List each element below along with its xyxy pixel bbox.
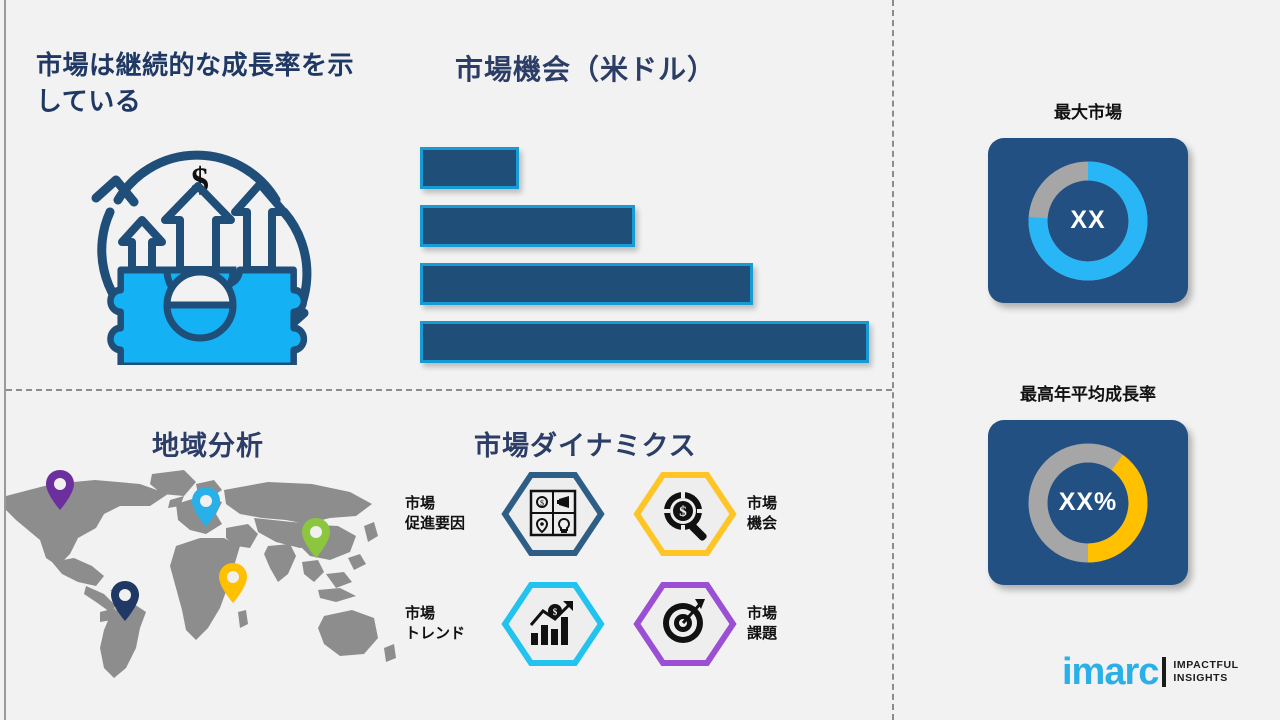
bar-4 — [420, 321, 869, 363]
dynamics-hex-drivers[interactable]: $ — [501, 471, 605, 557]
vertical-dashed-divider — [892, 0, 894, 720]
dynamics-label-challenges-line2: 課題 — [747, 624, 833, 644]
donut-1-label: 最大市場 — [958, 98, 1218, 123]
imarc-tagline-line1: IMPACTFUL — [1173, 659, 1238, 672]
dynamics-label-challenges-line1: 市場 — [747, 604, 833, 624]
bar-3 — [420, 263, 753, 305]
dynamics-row-top: 市場 促進要因 $ — [405, 474, 833, 554]
opportunity-bar-chart — [420, 147, 869, 379]
largest-market-donut-panel: XX — [988, 138, 1188, 303]
growth-section-heading: 市場は継続的な成長率を示している — [36, 48, 376, 120]
pin-middle-east-africa[interactable] — [217, 561, 249, 610]
donut-1-center-value: XX — [988, 138, 1188, 303]
svg-text:$: $ — [540, 499, 544, 508]
pin-europe[interactable] — [190, 485, 222, 534]
logo-divider — [1162, 657, 1166, 687]
imarc-logo: imarc IMPACTFUL INSIGHTS — [1062, 655, 1239, 689]
dynamics-section-heading: 市場ダイナミクス — [474, 424, 697, 463]
dynamics-label-drivers: 市場 促進要因 — [405, 494, 501, 535]
imarc-tagline-line2: INSIGHTS — [1173, 672, 1238, 685]
highest-cagr-donut-panel: XX% — [988, 420, 1188, 585]
dynamics-label-opportunities-line2: 機会 — [747, 514, 833, 534]
dynamics-label-opportunities-line1: 市場 — [747, 494, 833, 514]
svg-text:$: $ — [553, 607, 558, 617]
imarc-wordmark: imarc — [1062, 655, 1158, 689]
dynamics-label-drivers-line1: 市場 — [405, 494, 501, 514]
pin-asia[interactable] — [300, 516, 332, 565]
slide-canvas: 市場は継続的な成長率を示している $ 市場機会（米ドル） — [0, 0, 1280, 720]
dynamics-hex-challenges[interactable] — [633, 581, 737, 667]
dynamics-label-challenges: 市場 課題 — [737, 604, 833, 645]
pin-south-america[interactable] — [109, 579, 141, 628]
dynamics-hex-opportunities[interactable]: $ — [633, 471, 737, 557]
growth-cycle-gear-icon: $ — [72, 130, 322, 365]
opportunity-chart-heading: 市場機会（米ドル） — [455, 48, 716, 88]
region-section-heading: 地域分析 — [152, 424, 264, 463]
donut-2-center-value: XX% — [988, 420, 1188, 585]
bar-2 — [420, 205, 635, 247]
dynamics-label-drivers-line2: 促進要因 — [405, 514, 501, 534]
bar-1 — [420, 147, 519, 189]
pin-north-america[interactable] — [44, 468, 76, 517]
dynamics-label-trends: 市場 トレンド — [405, 604, 501, 645]
dynamics-label-opportunities: 市場 機会 — [737, 494, 833, 535]
dynamics-label-trends-line1: 市場 — [405, 604, 501, 624]
imarc-tagline: IMPACTFUL INSIGHTS — [1173, 659, 1238, 685]
dynamics-row-bottom: 市場 トレンド $ — [405, 584, 833, 664]
svg-text:$: $ — [679, 504, 687, 520]
dynamics-hex-trends[interactable]: $ — [501, 581, 605, 667]
dynamics-label-trends-line2: トレンド — [405, 624, 501, 644]
dynamics-grid: 市場 促進要因 $ — [405, 474, 835, 689]
donut-2-label: 最高年平均成長率 — [958, 380, 1218, 405]
horizontal-dashed-divider — [6, 389, 892, 391]
